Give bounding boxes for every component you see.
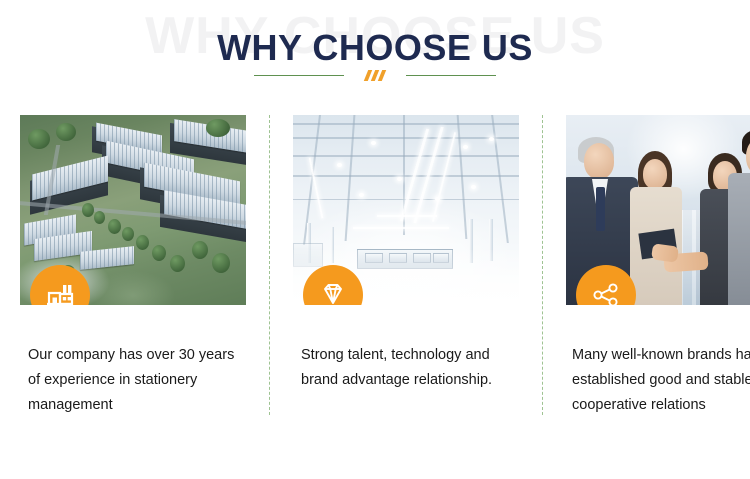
card-separator-1: [269, 115, 270, 415]
feature-card-talent: Strong talent, technology and brand adva…: [293, 115, 519, 415]
section-header: WHY CHOOSE US WHY CHOOSE US: [0, 0, 750, 100]
diamond-icon: [317, 279, 349, 305]
page-title: WHY CHOOSE US: [0, 27, 750, 69]
card-image-factory-interior: [293, 115, 519, 305]
slash-3: [378, 70, 386, 81]
card-description: Our company has over 30 years of experie…: [28, 343, 244, 418]
divider-line-left: [254, 75, 344, 76]
three-slashes-ornament-icon: [366, 70, 384, 81]
factory-icon: [44, 279, 76, 305]
feature-card-brands: Many well-known brands have established …: [566, 115, 750, 415]
card-separator-2: [542, 115, 543, 415]
card-image-industrial-park: [20, 115, 246, 305]
why-choose-us-section: WHY CHOOSE US WHY CHOOSE US: [0, 0, 750, 479]
card-image-business-handshake: [566, 115, 750, 305]
feature-card-list: Our company has over 30 years of experie…: [20, 115, 730, 415]
divider-line-right: [406, 75, 496, 76]
feature-card-experience: Our company has over 30 years of experie…: [20, 115, 246, 415]
card-description: Many well-known brands have established …: [572, 343, 750, 418]
card-description: Strong talent, technology and brand adva…: [301, 343, 517, 393]
share-network-icon: [590, 279, 622, 305]
title-divider: [0, 70, 750, 81]
